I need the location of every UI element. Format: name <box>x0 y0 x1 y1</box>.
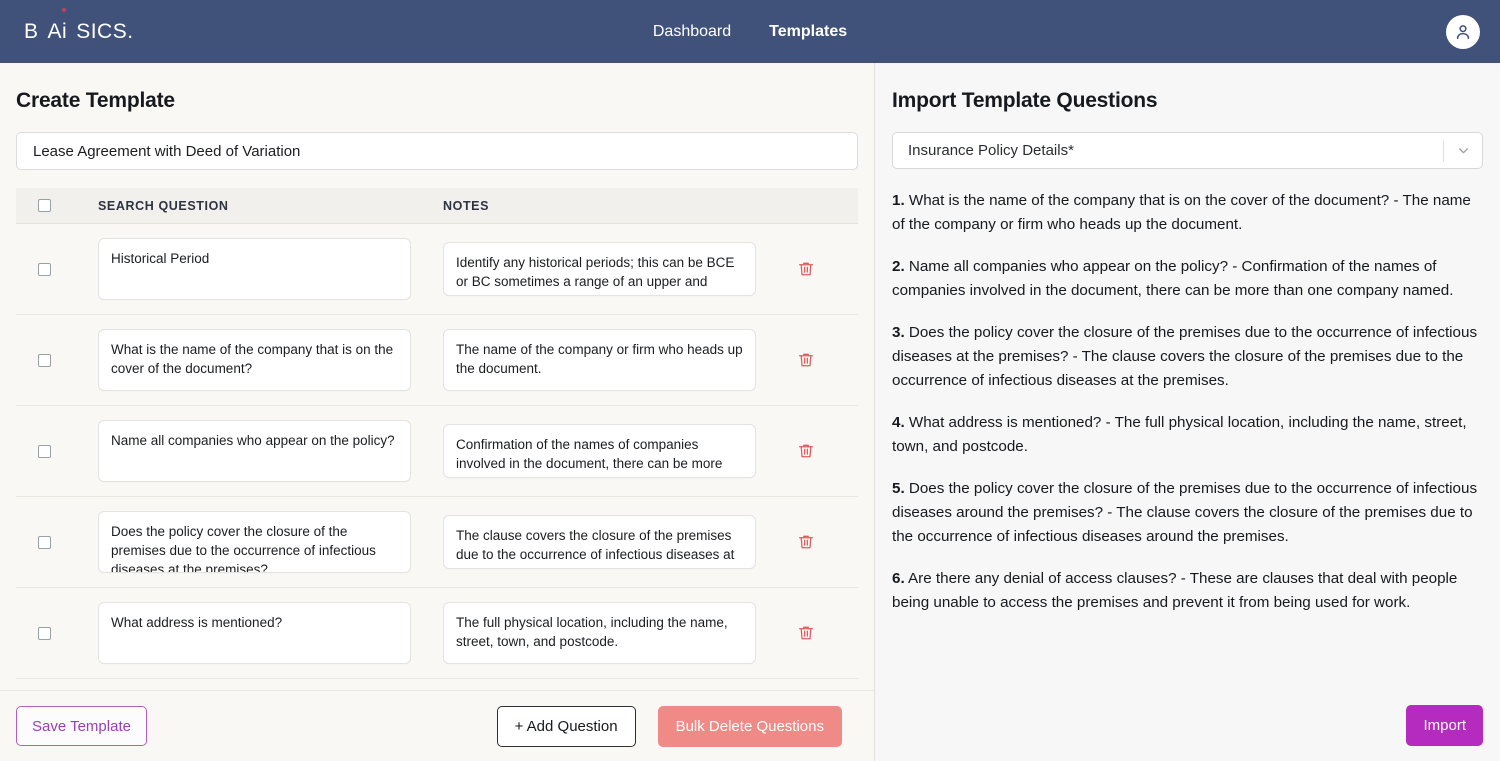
delete-row-button[interactable] <box>794 257 818 281</box>
logo-accent-dot <box>62 8 66 12</box>
select-all-cell <box>16 199 98 212</box>
column-header-notes: NOTES <box>443 199 858 213</box>
table-row: Name all companies who appear on the pol… <box>16 406 858 497</box>
template-select-value: Insurance Policy Details* <box>893 142 1443 159</box>
right-footer-bar: Import <box>875 690 1500 761</box>
question-number: 2. <box>892 258 905 275</box>
table-row: Does the policy cover the closure of the… <box>16 497 858 588</box>
logo-part-ai: Ai <box>48 20 68 44</box>
question-text: Does the policy cover the closure of the… <box>892 480 1477 545</box>
question-text: Does the policy cover the closure of the… <box>892 324 1477 389</box>
add-question-button[interactable]: + Add Question <box>497 706 636 747</box>
user-icon <box>1453 22 1473 42</box>
avatar[interactable] <box>1446 15 1480 49</box>
chevron-down-icon <box>1456 143 1471 158</box>
list-item: 1. What is the name of the company that … <box>892 189 1483 237</box>
question-text: What address is mentioned? - The full ph… <box>892 414 1467 455</box>
trash-icon <box>797 260 815 278</box>
left-footer-bar: Save Template + Add Question Bulk Delete… <box>0 690 874 761</box>
list-item: 6. Are there any denial of access clause… <box>892 567 1483 615</box>
table-row: Historical Period Identify any historica… <box>16 224 858 315</box>
notes-input[interactable]: The name of the company or firm who head… <box>443 329 756 391</box>
page-title: Create Template <box>16 89 874 113</box>
question-input[interactable]: Name all companies who appear on the pol… <box>98 420 411 482</box>
notes-input[interactable]: Confirmation of the names of companies i… <box>443 424 756 478</box>
delete-row-button[interactable] <box>794 348 818 372</box>
row-checkbox-cell <box>16 536 98 549</box>
row-checkbox-cell <box>16 263 98 276</box>
imported-questions-list: 1. What is the name of the company that … <box>892 181 1483 690</box>
row-checkbox[interactable] <box>38 445 51 458</box>
question-input[interactable]: What is the name of the company that is … <box>98 329 411 391</box>
nav-item-dashboard[interactable]: Dashboard <box>653 23 731 41</box>
logo-part-sics: SICS. <box>76 20 133 44</box>
question-text: What is the name of the company that is … <box>892 192 1471 233</box>
top-navigation-bar: B Ai SICS. Dashboard Templates <box>0 0 1500 63</box>
delete-row-button[interactable] <box>794 439 818 463</box>
select-arrow-wrap[interactable] <box>1444 143 1482 158</box>
row-checkbox-cell <box>16 354 98 367</box>
trash-icon <box>797 442 815 460</box>
trash-icon <box>797 533 815 551</box>
list-item: 4. What address is mentioned? - The full… <box>892 411 1483 459</box>
save-template-button[interactable]: Save Template <box>16 706 147 746</box>
question-input[interactable]: Does the policy cover the closure of the… <box>98 511 411 573</box>
import-panel-title: Import Template Questions <box>892 89 1500 113</box>
row-checkbox-cell <box>16 627 98 640</box>
row-checkbox[interactable] <box>38 263 51 276</box>
nav-item-templates[interactable]: Templates <box>769 23 847 41</box>
template-name-input[interactable]: Lease Agreement with Deed of Variation <box>16 132 858 170</box>
nav-links: Dashboard Templates <box>653 23 847 41</box>
list-item: 2. Name all companies who appear on the … <box>892 255 1483 303</box>
question-input[interactable]: Historical Period <box>98 238 411 300</box>
questions-table-body: Historical Period Identify any historica… <box>16 224 858 690</box>
trash-icon <box>797 351 815 369</box>
select-all-checkbox[interactable] <box>38 199 51 212</box>
row-checkbox-cell <box>16 445 98 458</box>
import-template-panel: Import Template Questions Insurance Poli… <box>875 63 1500 761</box>
notes-input[interactable]: The clause covers the closure of the pre… <box>443 515 756 569</box>
logo-ai-text: Ai <box>48 20 68 43</box>
row-checkbox[interactable] <box>38 627 51 640</box>
trash-icon <box>797 624 815 642</box>
list-item: 3. Does the policy cover the closure of … <box>892 321 1483 393</box>
question-number: 3. <box>892 324 905 341</box>
create-template-panel: Create Template Lease Agreement with Dee… <box>0 63 875 761</box>
question-text: Are there any denial of access clauses? … <box>892 570 1457 611</box>
question-number: 6. <box>892 570 905 587</box>
question-number: 5. <box>892 480 905 497</box>
import-button[interactable]: Import <box>1406 705 1483 746</box>
delete-row-button[interactable] <box>794 530 818 554</box>
questions-table-header: SEARCH QUESTION NOTES <box>16 188 858 224</box>
bulk-delete-questions-button[interactable]: Bulk Delete Questions <box>658 706 842 747</box>
delete-row-button[interactable] <box>794 621 818 645</box>
template-select[interactable]: Insurance Policy Details* <box>892 132 1483 169</box>
logo-part-b: B <box>24 20 39 44</box>
table-row: What is the name of the company that is … <box>16 315 858 406</box>
app-logo[interactable]: B Ai SICS. <box>24 20 134 44</box>
column-header-search-question: SEARCH QUESTION <box>98 199 443 213</box>
notes-input[interactable]: Identify any historical periods; this ca… <box>443 242 756 296</box>
question-number: 4. <box>892 414 905 431</box>
list-item: 5. Does the policy cover the closure of … <box>892 477 1483 549</box>
row-checkbox[interactable] <box>38 536 51 549</box>
question-number: 1. <box>892 192 905 209</box>
row-checkbox[interactable] <box>38 354 51 367</box>
question-input[interactable]: What address is mentioned? <box>98 602 411 664</box>
question-text: Name all companies who appear on the pol… <box>892 258 1453 299</box>
main-content: Create Template Lease Agreement with Dee… <box>0 63 1500 761</box>
notes-input[interactable]: The full physical location, including th… <box>443 602 756 664</box>
table-row: What address is mentioned? The full phys… <box>16 588 858 679</box>
